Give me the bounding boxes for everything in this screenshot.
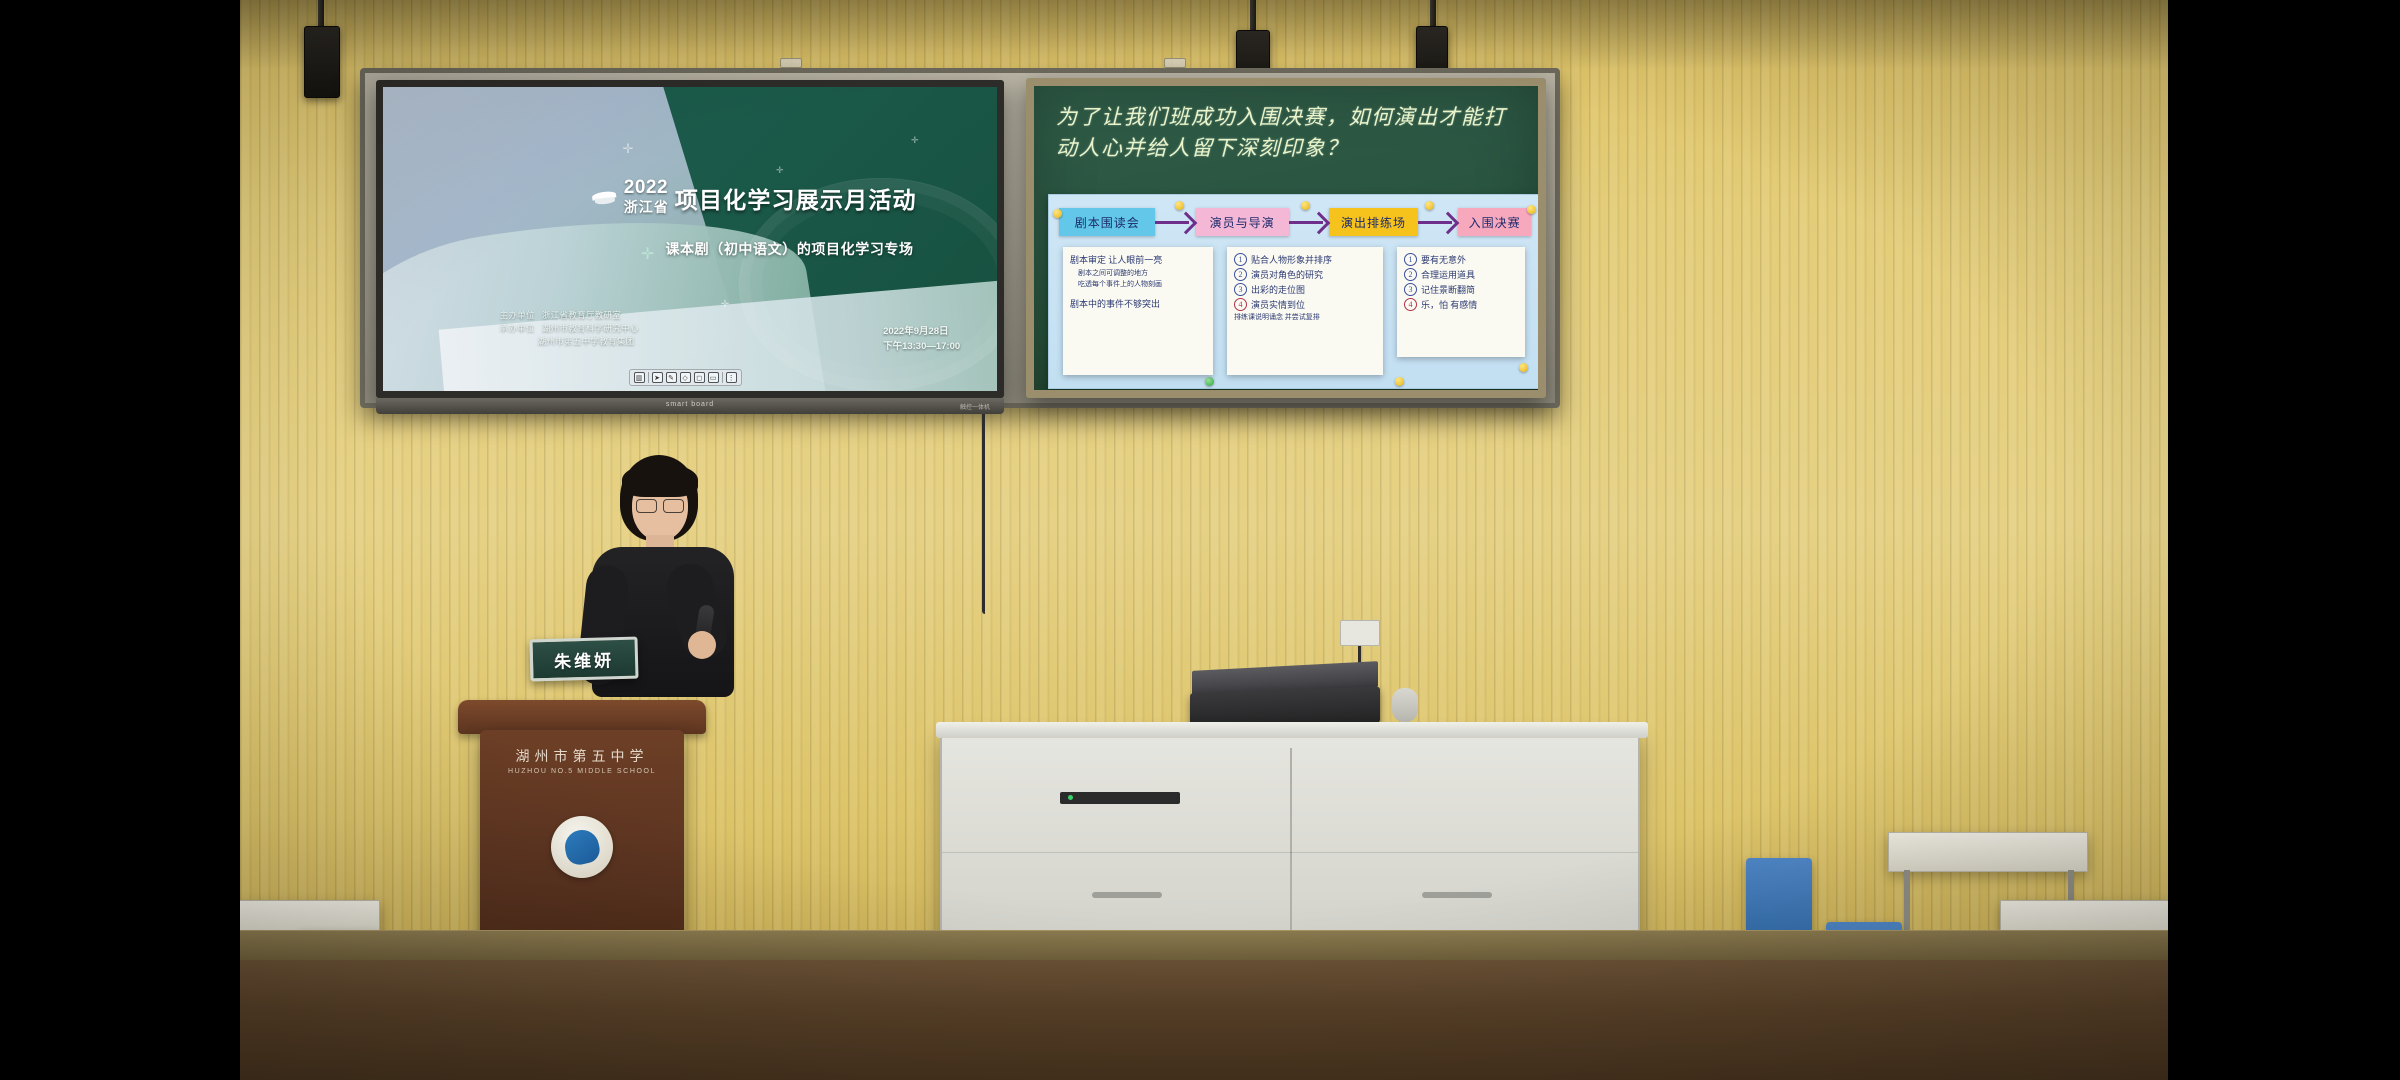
note-line: 2演员对角色的研究 — [1234, 268, 1376, 283]
note-line: 吃透每个事件上的人物刻画 — [1070, 279, 1206, 291]
note-card-1: 剧本审定 让人眼前一亮 剧本之间可调整的地方 吃透每个事件上的人物刻画 剧本中的… — [1063, 247, 1213, 375]
cabinet-handle[interactable] — [1422, 892, 1492, 898]
organizer-row: 湖州市第五中学教育集团 — [500, 335, 639, 348]
chalkboard: 为了让我们班成功入围决赛，如何演出才能打动人心并给人留下深刻印象？ 剧本围读会 … — [1026, 78, 1546, 398]
note-line: 1贴合人物形象并排序 — [1234, 253, 1376, 268]
ceiling-shadow — [240, 0, 2168, 70]
ceiling-fixture — [1164, 58, 1186, 68]
menu-icon[interactable]: ⋮ — [726, 372, 737, 383]
sparkle-icon: ✛ — [622, 142, 633, 155]
list-number: 1 — [1234, 253, 1247, 266]
organizer-name: 湖州市教育科学研究中心 — [542, 322, 639, 335]
note-card-3: 1要有无意外 2合理运用道具 3记住景断翻简 4乐，怕 有感情 — [1397, 247, 1525, 357]
plus-decoration-icon: ✛ — [641, 244, 654, 264]
note-text: 吃透每个事件上的人物刻画 — [1078, 279, 1162, 291]
list-number: 3 — [1404, 283, 1417, 296]
blue-poster: 剧本围读会 演员与导演 演出排练场 入围决赛 剧本审定 让人眼前一亮 — [1048, 194, 1540, 389]
pen-icon[interactable]: ✎ — [666, 372, 677, 383]
cabinet-top — [936, 722, 1648, 738]
name-plate: 朱维妍 — [529, 637, 638, 682]
ceiling-fixture — [780, 58, 802, 68]
status-led — [1068, 795, 1073, 800]
speaker-hanger-rod — [1250, 0, 1256, 34]
flow-step-4: 入围决赛 — [1458, 208, 1531, 236]
pages-icon[interactable]: ▥ — [634, 372, 645, 383]
note-text: 剧本审定 让人眼前一亮 — [1070, 253, 1162, 268]
slide-time: 下午13:30—17:00 — [883, 339, 960, 354]
school-name-cn: 湖州市第五中学 — [480, 746, 684, 766]
list-number: 4 — [1404, 298, 1417, 311]
presenter-name: 朱维妍 — [554, 646, 615, 673]
podium-top — [458, 700, 706, 734]
note-line: 剧本之间可调整的地方 — [1070, 268, 1206, 280]
cabinet-seam — [942, 852, 1638, 853]
presenter-hair-front — [622, 463, 698, 497]
note-line: 4演员实情到位 — [1234, 298, 1376, 313]
smartboard-bezel: smart board 触控一体机 — [376, 398, 1004, 414]
note-line: 1要有无意外 — [1404, 253, 1518, 268]
note-text: 要有无意外 — [1421, 253, 1466, 268]
classroom-scene: ✛ ✛ ✛ ✛ 2022 浙江省 项目化学习展示月活动 ✛ 课本剧（初中语文）的… — [240, 0, 2168, 1080]
slide-organizers: 主办单位 浙江省教育厅教研室 承办单位 湖州市教育科学研究中心 湖州市第五中学教… — [500, 309, 639, 349]
arrow-icon — [1289, 215, 1329, 229]
smartboard-brand-side: 触控一体机 — [960, 402, 990, 411]
list-number: 1 — [1404, 253, 1417, 266]
list-number: 3 — [1234, 283, 1247, 296]
cursor-icon[interactable]: ➤ — [652, 372, 663, 383]
flow-diagram: 剧本围读会 演员与导演 演出排练场 入围决赛 — [1059, 205, 1531, 239]
note-line: 3出彩的走位图 — [1234, 283, 1376, 298]
note-line: 排练课说明诵念 并尝试复排 — [1234, 312, 1376, 324]
sparkle-icon: ✛ — [721, 300, 729, 310]
organizer-role: 承办单位 — [500, 322, 535, 335]
letterbox-bar-right — [2168, 0, 2400, 1080]
note-text: 合理运用道具 — [1421, 268, 1475, 283]
slide-heading: 2022 浙江省 项目化学习展示月活动 — [592, 178, 917, 217]
letterbox-bar-left — [0, 0, 240, 1080]
organizer-name: 浙江省教育厅教研室 — [542, 309, 621, 322]
note-text: 排练课说明诵念 并尝试复排 — [1234, 312, 1320, 324]
note-line: 剧本审定 让人眼前一亮 — [1070, 253, 1206, 268]
toolbar-divider — [648, 372, 649, 383]
ceiling-speaker-left — [304, 26, 340, 98]
screenshot-stage: ✛ ✛ ✛ ✛ 2022 浙江省 项目化学习展示月活动 ✛ 课本剧（初中语文）的… — [0, 0, 2400, 1080]
note-line: 4乐，怕 有感情 — [1404, 298, 1518, 313]
magnet-dot — [1175, 201, 1184, 210]
note-text: 演员实情到位 — [1251, 298, 1305, 313]
school-name-en: HUZHOU NO.5 MIDDLE SCHOOL — [480, 768, 684, 775]
arrow-icon — [1418, 215, 1458, 229]
magnet-dot — [1425, 201, 1434, 210]
note-line: 3记住景断翻简 — [1404, 283, 1518, 298]
note-text: 记住景断翻简 — [1421, 283, 1475, 298]
slide-date: 2022年9月28日 — [883, 324, 960, 339]
student-desk — [1888, 832, 2088, 872]
presentation-slide: ✛ ✛ ✛ ✛ 2022 浙江省 项目化学习展示月活动 ✛ 课本剧（初中语文）的… — [383, 87, 997, 391]
glasses-icon — [636, 499, 684, 511]
organizer-row: 承办单位 湖州市教育科学研究中心 — [500, 322, 639, 335]
note-text: 贴合人物形象并排序 — [1251, 253, 1332, 268]
magnet-dot — [1205, 377, 1214, 386]
mouse[interactable] — [1392, 688, 1418, 722]
cable — [982, 414, 985, 614]
shape-icon[interactable]: ◻ — [694, 372, 705, 383]
smartboard-brand: smart board — [666, 401, 714, 408]
wall-baseboard — [240, 930, 2168, 962]
list-number: 2 — [1404, 268, 1417, 281]
sparkle-icon: ✛ — [911, 136, 919, 145]
province-logo-icon — [592, 189, 618, 207]
smart-board-display[interactable]: ✛ ✛ ✛ ✛ 2022 浙江省 项目化学习展示月活动 ✛ 课本剧（初中语文）的… — [376, 80, 1004, 398]
note-line: 2合理运用道具 — [1404, 268, 1518, 283]
slide-datetime: 2022年9月28日 下午13:30—17:00 — [883, 324, 960, 354]
flow-step-2: 演员与导演 — [1196, 208, 1289, 236]
note-text: 剧本之间可调整的地方 — [1078, 268, 1148, 280]
chalkboard-question: 为了让我们班成功入围决赛，如何演出才能打动人心并给人留下深刻印象？ — [1056, 102, 1526, 164]
sparkle-icon: ✛ — [776, 166, 784, 175]
magnet-dot — [1395, 377, 1404, 386]
flow-step-3: 演出排练场 — [1329, 208, 1418, 236]
control-panel[interactable] — [1060, 792, 1180, 804]
note-line: 剧本中的事件不够突出 — [1070, 297, 1206, 312]
cabinet-handle[interactable] — [1092, 892, 1162, 898]
magnet-dot — [1053, 209, 1062, 218]
classroom-floor — [240, 960, 2168, 1080]
note-text: 出彩的走位图 — [1251, 283, 1305, 298]
slide-year: 2022 — [624, 178, 669, 197]
organizer-name: 湖州市第五中学教育集团 — [538, 335, 635, 348]
organizer-role: 主办单位 — [500, 309, 535, 322]
bird-icon — [562, 827, 602, 867]
magnet-dot — [1301, 201, 1310, 210]
smartboard-toolbar[interactable]: ▥ ➤ ✎ ◇ ◻ ▭ ⋮ — [629, 369, 742, 386]
magnet-dot — [1527, 205, 1536, 214]
slide-subtitle: 课本剧（初中语文）的项目化学习专场 — [665, 239, 913, 259]
note-text: 演员对角色的研究 — [1251, 268, 1323, 283]
note-text: 剧本中的事件不够突出 — [1070, 297, 1160, 312]
presenter-hand — [688, 631, 716, 659]
list-number: 4 — [1234, 298, 1247, 311]
flow-step-1: 剧本围读会 — [1059, 208, 1155, 236]
power-outlet — [1340, 620, 1380, 646]
eraser-icon[interactable]: ◇ — [680, 372, 691, 383]
rectangle-icon[interactable]: ▭ — [708, 372, 719, 383]
arrow-icon — [1155, 215, 1195, 229]
note-card-2: 1贴合人物形象并排序 2演员对角色的研究 3出彩的走位图 4演员实情到位 排练课… — [1227, 247, 1383, 375]
slide-title: 项目化学习展示月活动 — [675, 181, 917, 215]
note-text: 乐，怕 有感情 — [1421, 298, 1477, 313]
magnet-dot — [1519, 363, 1528, 372]
school-emblem — [551, 816, 613, 878]
slide-province: 浙江省 — [624, 197, 669, 217]
toolbar-divider — [722, 372, 723, 383]
list-number: 2 — [1234, 268, 1247, 281]
organizer-row: 主办单位 浙江省教育厅教研室 — [500, 309, 639, 322]
